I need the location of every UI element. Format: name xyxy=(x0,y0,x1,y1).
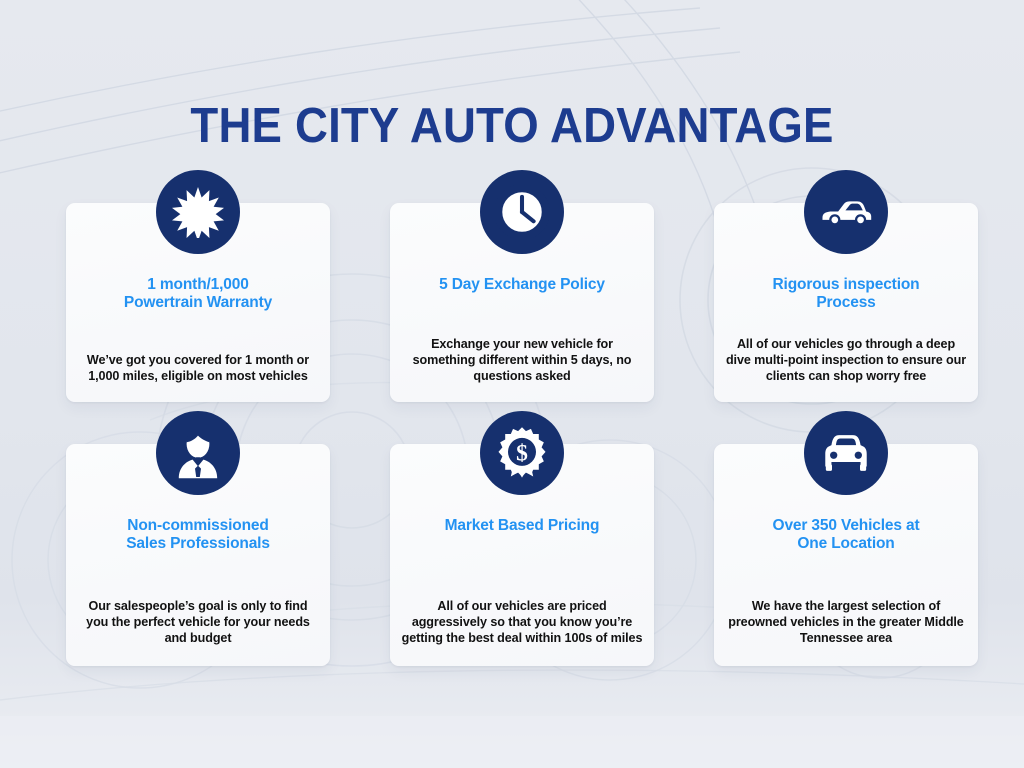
advantage-card-inspection-process[interactable]: Rigorous inspection Process All of our v… xyxy=(714,203,978,402)
infographic-stage: THE CITY AUTO ADVANTAGE 1 month/1,000 Po… xyxy=(0,0,1024,768)
starburst-icon xyxy=(156,170,240,254)
advantage-card-powertrain-warranty[interactable]: 1 month/1,000 Powertrain Warranty We’ve … xyxy=(66,203,330,402)
advantage-card-sales-professionals[interactable]: Non-commissioned Sales Professionals Our… xyxy=(66,444,330,666)
svg-text:$: $ xyxy=(516,440,528,466)
advantage-card-market-pricing[interactable]: $ Market Based Pricing All of our vehicl… xyxy=(390,444,654,666)
card-heading-line-1: Non-commissioned xyxy=(127,517,268,534)
car-side-icon xyxy=(804,170,888,254)
card-body-text: We have the largest selection of preowne… xyxy=(725,599,967,647)
car-front-icon xyxy=(804,411,888,495)
card-heading-line-1: 5 Day Exchange Policy xyxy=(439,276,605,293)
page-title: THE CITY AUTO ADVANTAGE xyxy=(36,101,988,152)
card-heading: 1 month/1,000 Powertrain Warranty xyxy=(76,276,320,312)
card-heading: 5 Day Exchange Policy xyxy=(400,276,644,294)
advantage-card-vehicle-selection[interactable]: Over 350 Vehicles at One Location We hav… xyxy=(714,444,978,666)
advantage-card-grid: 1 month/1,000 Powertrain Warranty We’ve … xyxy=(66,203,978,666)
card-heading-line-1: Rigorous inspection xyxy=(773,276,920,293)
card-heading-line-1: 1 month/1,000 xyxy=(147,276,248,293)
card-heading-line-2: One Location xyxy=(797,535,894,552)
card-body-text: Exchange your new vehicle for something … xyxy=(401,337,643,385)
card-heading-line-2: Powertrain Warranty xyxy=(124,294,272,311)
card-body-text: Our salespeople’s goal is only to find y… xyxy=(77,599,319,647)
clock-icon xyxy=(480,170,564,254)
card-heading: Over 350 Vehicles at One Location xyxy=(724,517,968,553)
advantage-card-exchange-policy[interactable]: 5 Day Exchange Policy Exchange your new … xyxy=(390,203,654,402)
salesperson-icon xyxy=(156,411,240,495)
card-heading-line-2: Process xyxy=(816,294,875,311)
card-heading: Non-commissioned Sales Professionals xyxy=(76,517,320,553)
card-heading-line-2: Sales Professionals xyxy=(126,535,270,552)
card-body-text: All of our vehicles are priced aggressiv… xyxy=(401,599,643,647)
card-heading: Market Based Pricing xyxy=(400,517,644,535)
dollar-badge-icon: $ xyxy=(480,411,564,495)
card-heading-line-1: Over 350 Vehicles at xyxy=(773,517,920,534)
card-body-text: All of our vehicles go through a deep di… xyxy=(725,337,967,385)
card-heading: Rigorous inspection Process xyxy=(724,276,968,312)
card-heading-line-1: Market Based Pricing xyxy=(445,517,600,534)
card-body-text: We’ve got you covered for 1 month or 1,0… xyxy=(77,353,319,385)
